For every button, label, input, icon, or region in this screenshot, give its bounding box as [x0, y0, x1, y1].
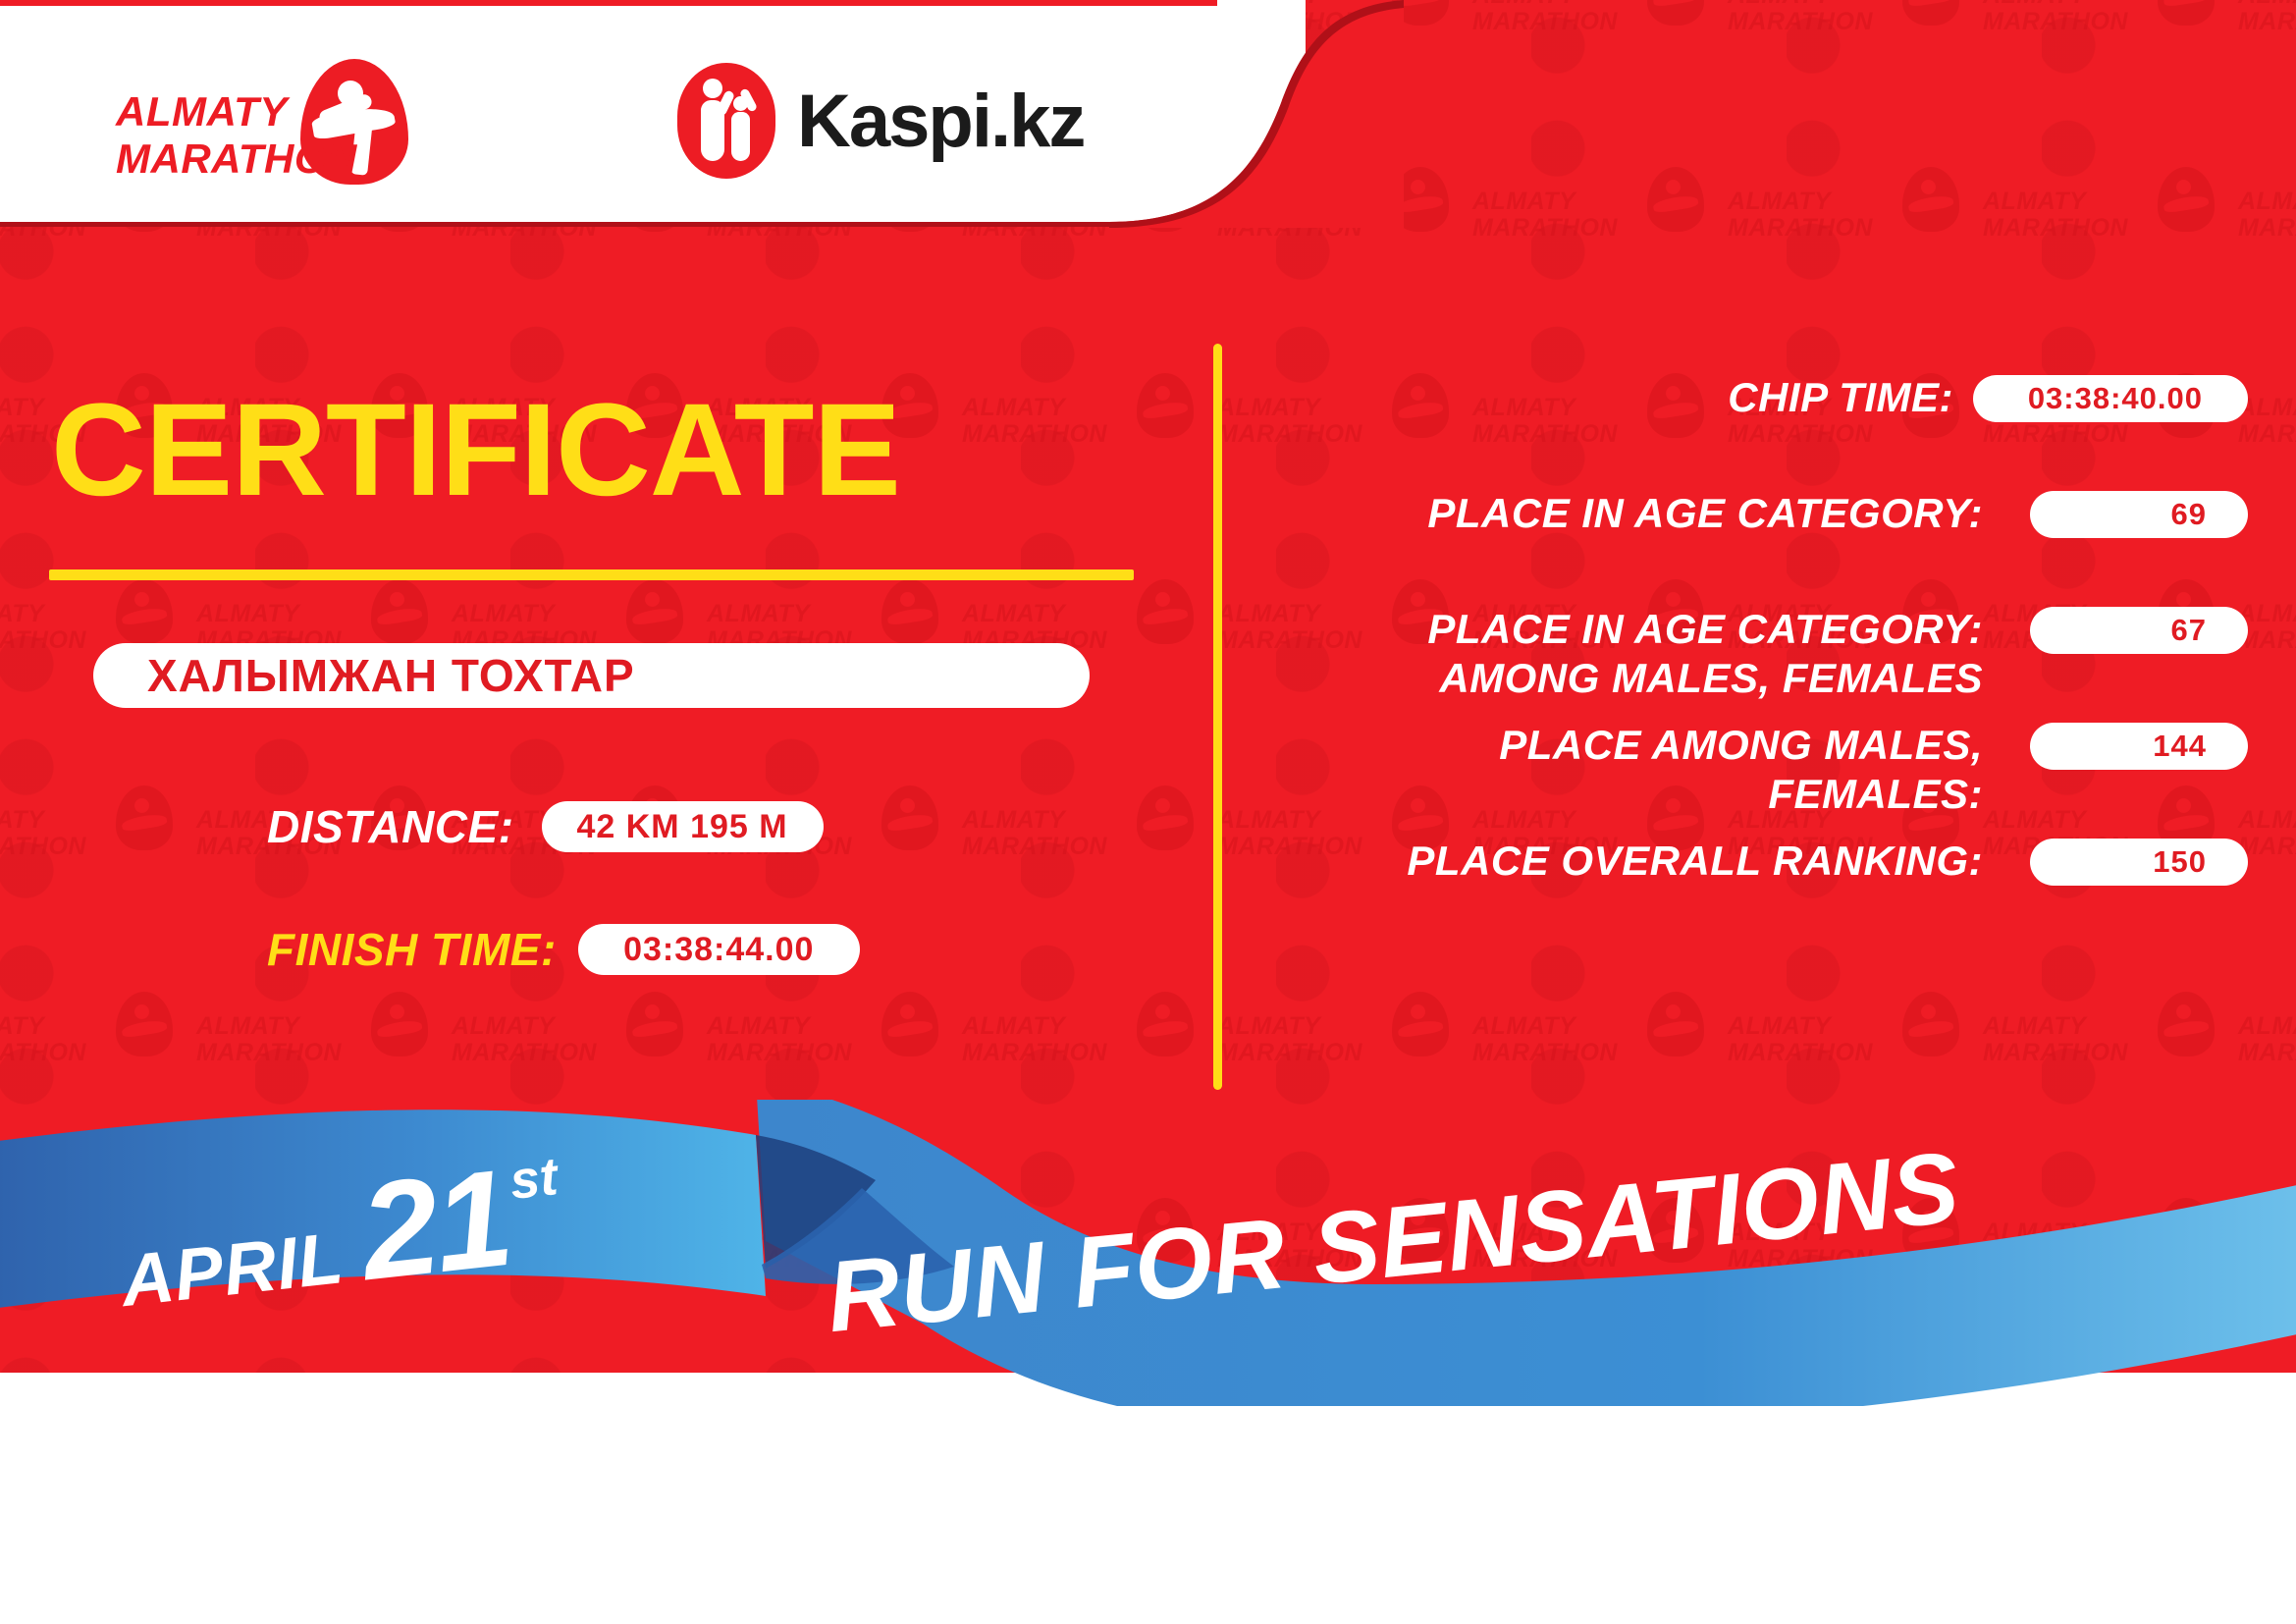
- watermark-text: ALMATYMARATHON: [1472, 1013, 1645, 1066]
- place-age-category-value-pill: 69: [2030, 491, 2248, 538]
- finish-time-value: 03:38:44.00: [623, 931, 814, 969]
- almaty-marathon-logo-text: ALMATY MARATHON: [116, 88, 357, 183]
- event-day: 21: [354, 1149, 515, 1301]
- watermark-runner-icon: [1647, 0, 1704, 26]
- watermark-runner-icon: [1137, 785, 1194, 850]
- distance-value-pill: 42 KM 195 M: [542, 801, 824, 852]
- stat-row-place-overall: PLACE OVERALL RANKING: 150: [1276, 837, 2248, 911]
- place-age-category-value: 69: [2171, 497, 2248, 532]
- watermark-runner-icon: [371, 579, 428, 644]
- watermark-tile: ALMATYMARATHON: [2238, 0, 2296, 69]
- watermark-runner-icon: [881, 785, 938, 850]
- watermark-runner-icon: [116, 579, 173, 644]
- watermark-tile: ALMATYMARATHON: [1472, 992, 1708, 1100]
- watermark-text: ALMATYMARATHON: [1472, 0, 1645, 35]
- sponsor-strip: Sulpak SANOFI Empowering Life ORIFLAME S…: [0, 1406, 2296, 1624]
- event-day-suffix: st: [507, 1146, 560, 1212]
- watermark-text: ALMATYMARATHON: [1983, 189, 2156, 242]
- watermark-tile: ALMATYMARATHON: [707, 992, 942, 1100]
- chip-time-label: CHIP TIME:: [1276, 373, 1953, 422]
- watermark-text: ALMATYMARATHON: [1728, 189, 1900, 242]
- finish-time-row: FINISH TIME: 03:38:44.00: [267, 923, 860, 976]
- finish-time-label: FINISH TIME:: [267, 923, 557, 976]
- place-age-category-gender-label: PLACE IN AGE CATEGORY: AMONG MALES, FEMA…: [1276, 605, 1983, 703]
- watermark-runner-icon: [1647, 992, 1704, 1056]
- watermark-runner-icon: [1392, 992, 1449, 1056]
- watermark-tile: ALMATYMARATHON: [2238, 992, 2296, 1100]
- watermark-text: ALMATYMARATHON: [0, 1013, 114, 1066]
- watermark-tile: ALMATYMARATHON: [1472, 167, 1708, 275]
- watermark-text: ALMATYMARATHON: [962, 807, 1135, 860]
- place-among-gender-label: PLACE AMONG MALES, FEMALES:: [1276, 721, 1983, 819]
- watermark-text: ALMATYMARATHON: [2238, 1013, 2296, 1066]
- chip-time-value-pill: 03:38:40.00: [1973, 375, 2248, 422]
- watermark-text: ALMATYMARATHON: [452, 1013, 624, 1066]
- watermark-runner-icon: [1137, 992, 1194, 1056]
- header-top-accent-line: [0, 0, 1217, 6]
- finish-time-value-pill: 03:38:44.00: [578, 924, 860, 975]
- watermark-text: ALMATYMARATHON: [2238, 0, 2296, 35]
- chip-time-value: 03:38:40.00: [2028, 381, 2248, 416]
- watermark-tile: ALMATYMARATHON: [1728, 0, 1963, 69]
- column-divider: [1213, 344, 1222, 1090]
- watermark-runner-icon: [1902, 167, 1959, 232]
- place-overall-label: PLACE OVERALL RANKING:: [1276, 837, 1983, 886]
- distance-label: DISTANCE:: [267, 800, 514, 853]
- watermark-text: ALMATYMARATHON: [962, 395, 1135, 448]
- place-overall-value-pill: 150: [2030, 839, 2248, 886]
- watermark-tile: ALMATYMARATHON: [962, 373, 1198, 481]
- watermark-tile: ALMATYMARATHON: [1983, 0, 2218, 69]
- watermark-text: ALMATYMARATHON: [196, 1013, 369, 1066]
- watermark-runner-icon: [1902, 992, 1959, 1056]
- watermark-runner-icon: [626, 992, 683, 1056]
- almaty-logo-line1: ALMATY: [116, 88, 357, 135]
- place-overall-value: 150: [2153, 844, 2248, 880]
- title-underline: [49, 569, 1134, 580]
- watermark-text: ALMATYMARATHON: [0, 601, 114, 654]
- watermark-text: ALMATYMARATHON: [1728, 1013, 1900, 1066]
- watermark-text: ALMATYMARATHON: [1728, 0, 1900, 35]
- distance-value: 42 KM 195 M: [576, 808, 787, 846]
- place-age-category-gender-label-line1: PLACE IN AGE CATEGORY:: [1276, 605, 1983, 654]
- watermark-runner-icon: [881, 579, 938, 644]
- watermark-runner-icon: [371, 992, 428, 1056]
- header-curve-shape: [1109, 0, 1404, 228]
- place-among-gender-value-pill: 144: [2030, 723, 2248, 770]
- watermark-text: ALMATYMARATHON: [1472, 189, 1645, 242]
- watermark-runner-icon: [1902, 0, 1959, 26]
- stat-row-place-age-category-gender: PLACE IN AGE CATEGORY: AMONG MALES, FEMA…: [1276, 605, 2248, 679]
- watermark-tile: ALMATYMARATHON: [0, 785, 177, 893]
- stat-row-place-age-category: PLACE IN AGE CATEGORY: 69: [1276, 489, 2248, 564]
- kaspi-logo: Kaspi.kz: [677, 57, 1084, 185]
- watermark-runner-icon: [116, 992, 173, 1056]
- watermark-runner-icon: [2158, 992, 2215, 1056]
- results-stats-list: CHIP TIME: 03:38:40.00 PLACE IN AGE CATE…: [1276, 373, 2248, 952]
- watermark-runner-icon: [116, 785, 173, 850]
- place-age-category-label: PLACE IN AGE CATEGORY:: [1276, 489, 1983, 538]
- watermark-tile: ALMATYMARATHON: [962, 992, 1198, 1100]
- watermark-runner-icon: [1647, 167, 1704, 232]
- almaty-marathon-logo: ALMATY MARATHON: [116, 59, 430, 187]
- watermark-runner-icon: [1137, 373, 1194, 438]
- place-age-category-gender-value: 67: [2171, 613, 2248, 648]
- watermark-tile: ALMATYMARATHON: [0, 992, 177, 1100]
- watermark-tile: ALMATYMARATHON: [1983, 167, 2218, 275]
- stat-row-chip-time: CHIP TIME: 03:38:40.00: [1276, 373, 2248, 448]
- watermark-runner-icon: [1137, 579, 1194, 644]
- watermark-runner-icon: [626, 579, 683, 644]
- watermark-tile: ALMATYMARATHON: [196, 992, 432, 1100]
- watermark-text: ALMATYMARATHON: [962, 1013, 1135, 1066]
- page-title: CERTIFICATE: [51, 385, 900, 516]
- watermark-tile: ALMATYMARATHON: [452, 992, 687, 1100]
- watermark-text: ALMATYMARATHON: [0, 807, 114, 860]
- kaspi-people-icon: [677, 63, 775, 179]
- watermark-text: ALMATYMARATHON: [1983, 1013, 2156, 1066]
- almaty-logo-line2: MARATHON: [116, 135, 357, 183]
- athlete-name: ХАЛЫМЖАН ТОХТАР: [147, 645, 1080, 706]
- watermark-tile: ALMATYMARATHON: [1728, 167, 1963, 275]
- watermark-text: ALMATYMARATHON: [2238, 189, 2296, 242]
- place-age-category-gender-label-line2: AMONG MALES, FEMALES: [1276, 654, 1983, 703]
- kaspi-logo-text: Kaspi.kz: [797, 79, 1084, 164]
- watermark-tile: ALMATYMARATHON: [1728, 992, 1963, 1100]
- distance-row: DISTANCE: 42 KM 195 M: [267, 800, 824, 853]
- watermark-runner-icon: [2158, 167, 2215, 232]
- watermark-tile: ALMATYMARATHON: [2238, 167, 2296, 275]
- watermark-runner-icon: [881, 992, 938, 1056]
- watermark-tile: ALMATYMARATHON: [1983, 992, 2218, 1100]
- watermark-tile: ALMATYMARATHON: [1472, 0, 1708, 69]
- watermark-text: ALMATYMARATHON: [707, 1013, 880, 1066]
- watermark-runner-icon: [2158, 0, 2215, 26]
- event-month: APRIL: [117, 1216, 347, 1323]
- place-among-gender-label-line2: FEMALES:: [1276, 770, 1983, 819]
- watermark-text: ALMATYMARATHON: [1217, 1013, 1390, 1066]
- watermark-text: ALMATYMARATHON: [1983, 0, 2156, 35]
- watermark-tile: ALMATYMARATHON: [1217, 992, 1453, 1100]
- stat-row-place-among-gender: PLACE AMONG MALES, FEMALES: 144: [1276, 721, 2248, 795]
- place-among-gender-value: 144: [2153, 729, 2248, 764]
- place-age-category-gender-value-pill: 67: [2030, 607, 2248, 654]
- place-among-gender-label-line1: PLACE AMONG MALES,: [1276, 721, 1983, 770]
- certificate-canvas: ALMATYMARATHONALMATYMARATHONALMATYMARATH…: [0, 0, 2296, 1624]
- watermark-tile: ALMATYMARATHON: [962, 785, 1198, 893]
